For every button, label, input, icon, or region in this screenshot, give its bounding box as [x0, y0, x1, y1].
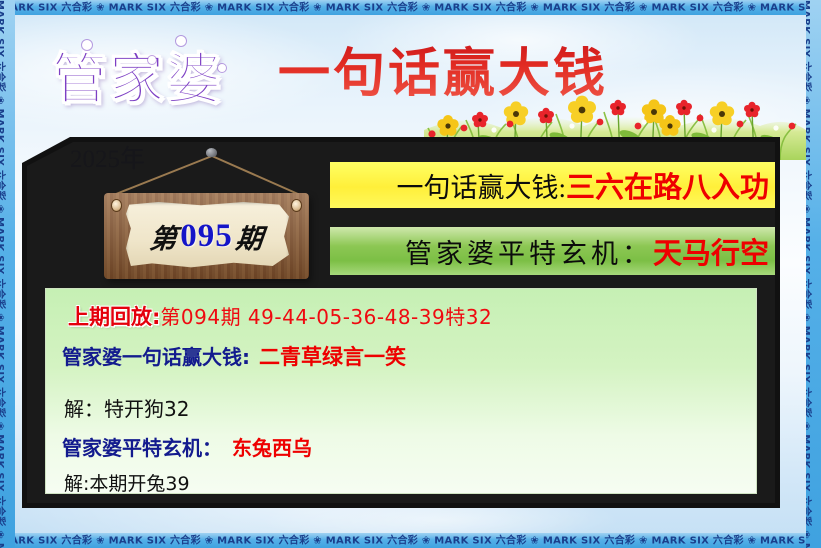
- frame-band-top: MARK SIX 六合彩 ❀ MARK SIX 六合彩 ❀ MARK SIX 六…: [0, 0, 821, 15]
- brand-logo: 管家婆: [52, 34, 223, 114]
- headline-slogan: 一句话赢大钱: [278, 31, 608, 106]
- issue-number: 095: [180, 218, 233, 255]
- issue-text: 第 095 期: [104, 193, 309, 279]
- brand-bubble-dot: [176, 36, 186, 46]
- previous-mystery-label: 管家婆平特玄机：: [62, 432, 222, 461]
- previous-mystery-line: 管家婆平特玄机： 东兔西乌: [62, 432, 312, 461]
- prediction-mystery-label: 管家婆平特玄机：: [405, 232, 653, 271]
- previous-mystery-result-line: 解:本期开兔39: [64, 469, 190, 496]
- frame-pattern-text-top: MARK SIX 六合彩 ❀ MARK SIX 六合彩 ❀ MARK SIX 六…: [0, 1, 821, 14]
- previous-phrase-result-line: 解：特开狗32: [64, 393, 189, 422]
- prediction-mystery-value: 天马行空: [653, 230, 769, 272]
- frame-pattern-text-left: MARK SIX 六合彩 ❀ MARK SIX 六合彩 ❀ MARK SIX 六…: [0, 0, 7, 548]
- sign-nail-icon: [206, 148, 217, 157]
- previous-results-box: 上期回放: 第094期 49-44-05-36-48-39特32 管家婆一句话赢…: [45, 288, 757, 494]
- previous-phrase-label: 管家婆一句话赢大钱:: [62, 341, 250, 370]
- issue-suffix: 期: [234, 217, 265, 256]
- previous-phrase-value: 二青草绿言一笑: [259, 341, 406, 371]
- replay-body: 第094期 49-44-05-36-48-39特32: [160, 301, 492, 330]
- brand-bubble-dot: [218, 64, 226, 72]
- poster-canvas: 管家婆 一句话赢大钱 2025年 第 095 期 一句话赢大钱:: [0, 0, 821, 548]
- replay-line: 上期回放: 第094期 49-44-05-36-48-39特32: [68, 301, 492, 331]
- prediction-row-phrase: 一句话赢大钱: 三六在路八入功: [330, 162, 775, 208]
- previous-phrase-result-text: 解：特开狗32: [64, 393, 189, 422]
- previous-mystery-result-text: 解:本期开兔39: [64, 469, 190, 496]
- previous-mystery-value: 东兔西乌: [232, 432, 312, 461]
- brand-logo-text: 管家婆: [52, 47, 223, 111]
- issue-prefix: 第: [148, 217, 179, 256]
- frame-pattern-text-bottom: MARK SIX 六合彩 ❀ MARK SIX 六合彩 ❀ MARK SIX 六…: [0, 534, 821, 547]
- frame-band-bottom: MARK SIX 六合彩 ❀ MARK SIX 六合彩 ❀ MARK SIX 六…: [0, 533, 821, 548]
- issue-sign: 第 095 期: [96, 148, 316, 283]
- prediction-phrase-label: 一句话赢大钱:: [396, 166, 566, 205]
- frame-band-left: MARK SIX 六合彩 ❀ MARK SIX 六合彩 ❀ MARK SIX 六…: [0, 0, 15, 548]
- replay-tag: 上期回放:: [68, 301, 160, 331]
- brand-bubble-dot: [148, 56, 156, 64]
- previous-phrase-line: 管家婆一句话赢大钱: 二青草绿言一笑: [62, 341, 406, 371]
- frame-band-right: MARK SIX 六合彩 ❀ MARK SIX 六合彩 ❀ MARK SIX 六…: [806, 0, 821, 548]
- sign-board: 第 095 期: [104, 193, 309, 279]
- prediction-row-mystery: 管家婆平特玄机： 天马行空: [330, 227, 775, 275]
- frame-pattern-text-right: MARK SIX 六合彩 ❀ MARK SIX 六合彩 ❀ MARK SIX 六…: [806, 0, 813, 548]
- brand-bubble-dot: [82, 40, 92, 50]
- prediction-phrase-value: 三六在路八入功: [566, 164, 769, 206]
